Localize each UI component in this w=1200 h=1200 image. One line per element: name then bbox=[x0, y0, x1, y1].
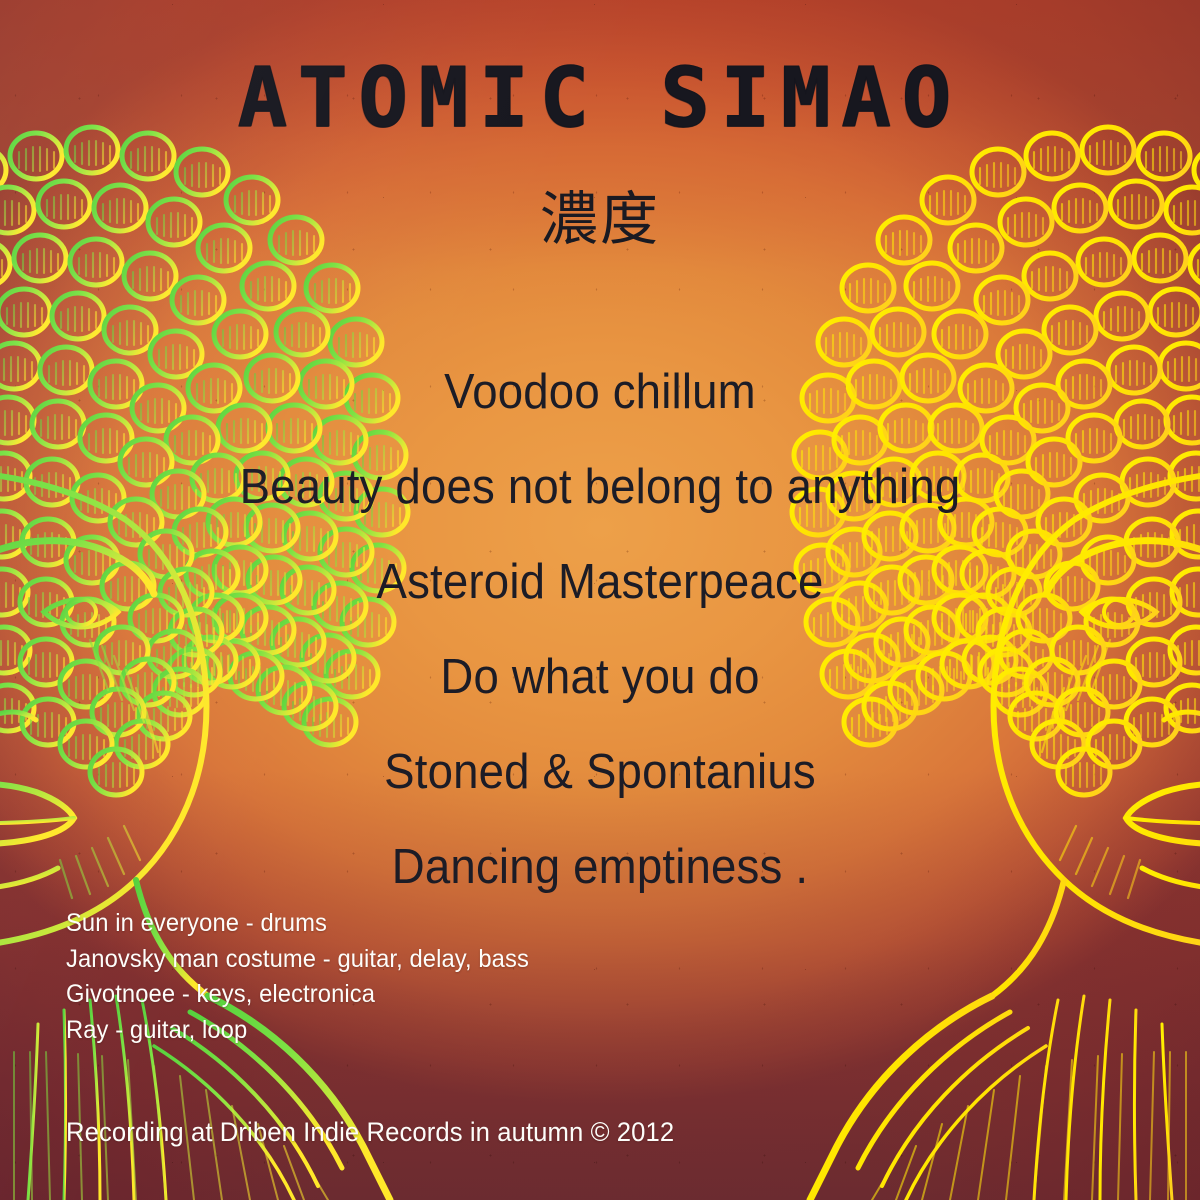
credit-line: Ray - guitar, loop bbox=[66, 1013, 529, 1049]
track-item: Asteroid Masterpeace bbox=[42, 558, 1158, 607]
track-item: Stoned & Spontanius bbox=[42, 748, 1158, 797]
track-item: Beauty does not belong to anything bbox=[42, 463, 1158, 512]
credit-line: Janovsky man costume - guitar, delay, ba… bbox=[66, 942, 529, 978]
track-item: Voodoo chillum bbox=[42, 368, 1158, 417]
copyright-line: Recording at Driben Indie Records in aut… bbox=[66, 1117, 674, 1148]
track-item: Do what you do bbox=[42, 653, 1158, 702]
album-title: ATOMIC SIMAO bbox=[0, 58, 1200, 140]
credit-line: Givotnoee - keys, electronica bbox=[66, 977, 529, 1013]
tracklist: Voodoo chillum Beauty does not belong to… bbox=[0, 368, 1200, 892]
album-subtitle-japanese: 濃度 bbox=[0, 190, 1200, 248]
credit-line: Sun in everyone - drums bbox=[66, 906, 529, 942]
album-cover-artwork: ATOMIC SIMAO 濃度 Voodoo chillum Beauty do… bbox=[0, 0, 1200, 1200]
track-item: Dancing emptiness . bbox=[42, 843, 1158, 892]
credits-block: Sun in everyone - drums Janovsky man cos… bbox=[66, 906, 553, 1048]
